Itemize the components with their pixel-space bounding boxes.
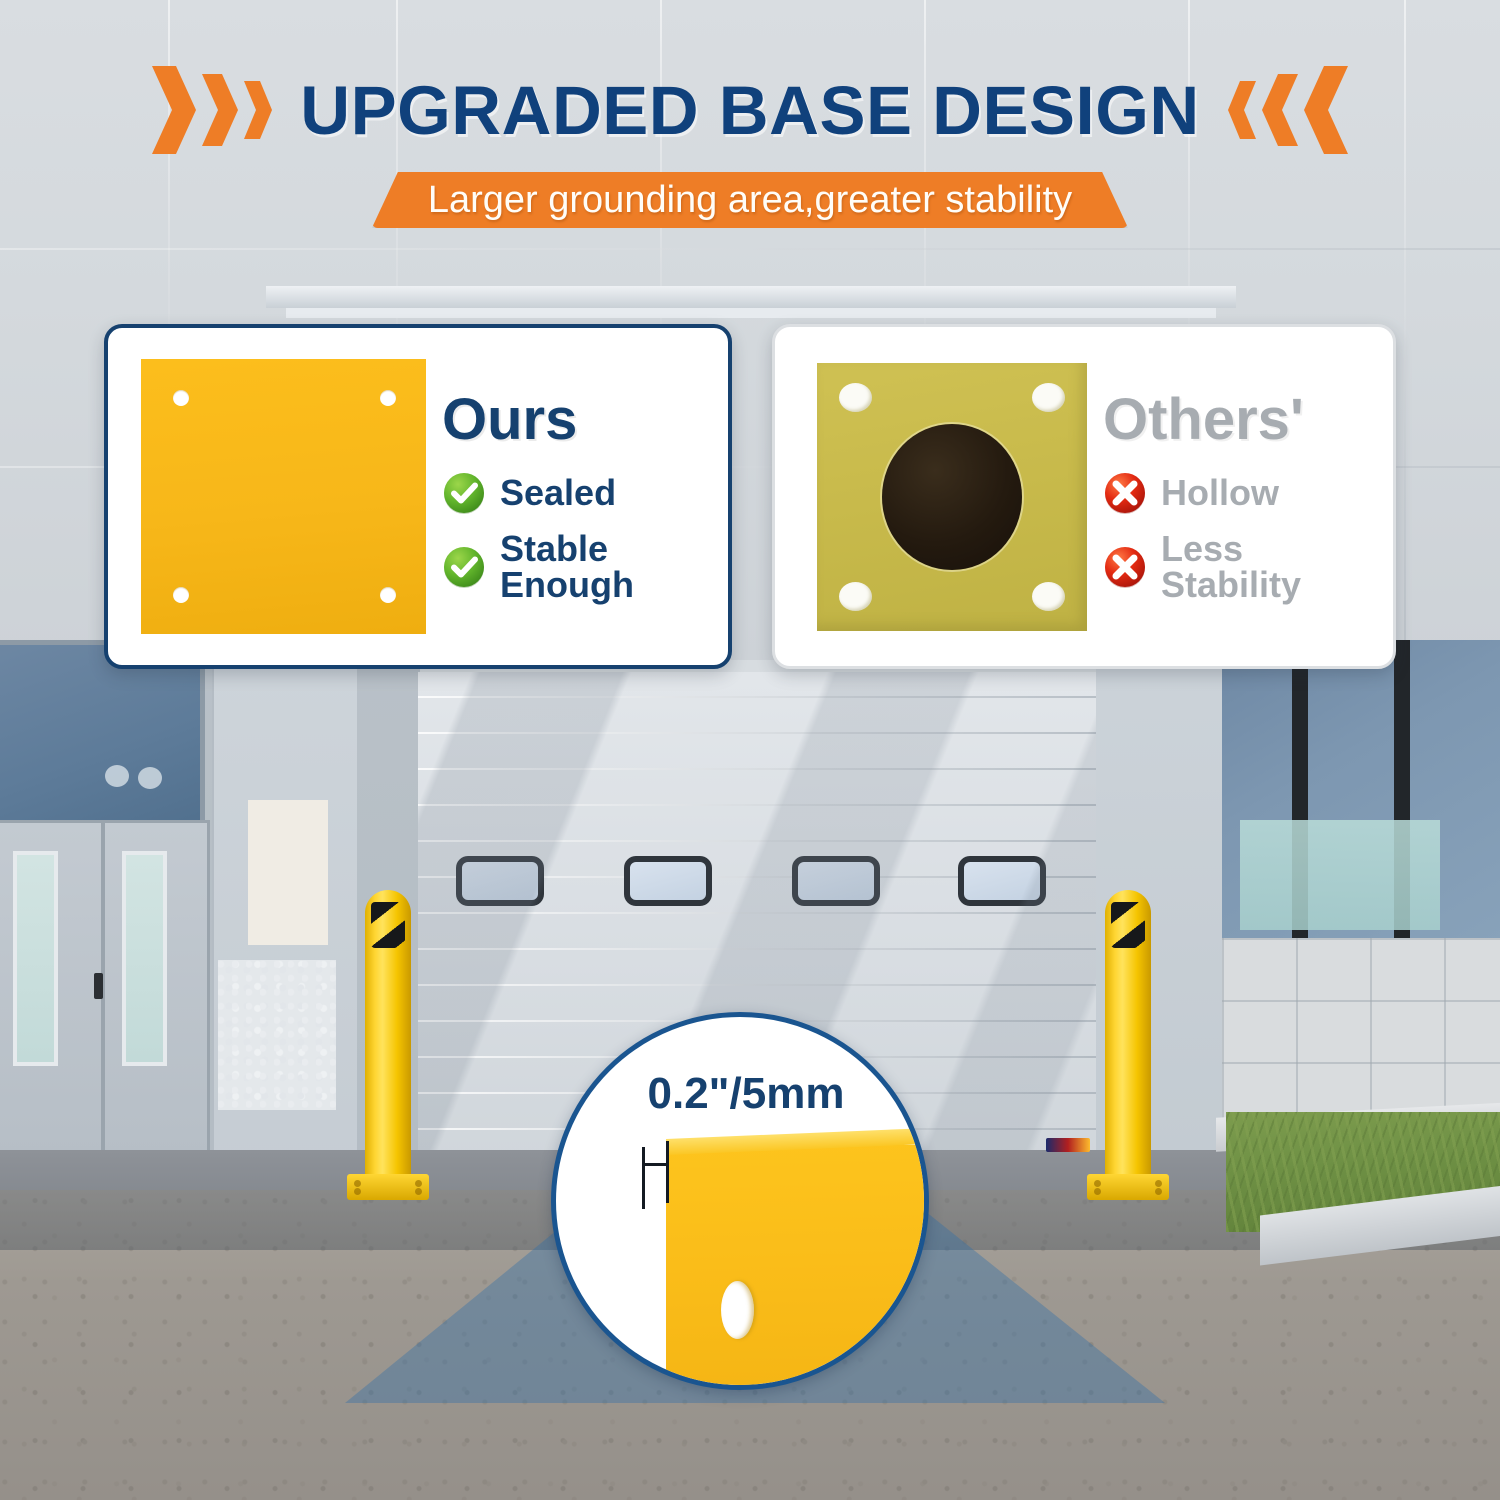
others-feature-label: Hollow (1161, 475, 1279, 511)
others-feature-line2: Stability (1161, 567, 1301, 603)
office-double-door (0, 820, 210, 1165)
others-feature-hollow: Hollow (1103, 471, 1379, 515)
glass-reflection (1240, 820, 1440, 930)
others-feature-line1: Less (1161, 531, 1301, 567)
ours-feature-label: Sealed (500, 475, 616, 511)
thickness-magnifier-callout: 0.2"/5mm (551, 1012, 929, 1390)
page-title-row: UPGRADED BASE DESIGN (0, 62, 1500, 158)
door-lintel-lower (286, 308, 1216, 318)
ours-text-column: Ours Sealed Stable Enough (426, 391, 728, 603)
ours-feature-line1: Stable (500, 531, 634, 567)
wall-patch (248, 800, 328, 945)
ours-plate-image (108, 359, 426, 634)
chevrons-right-icon (150, 64, 274, 156)
chevrons-left-icon (1226, 64, 1350, 156)
concrete-block-wall (1222, 938, 1500, 1118)
comparison-card-ours: Ours Sealed Stable Enough (104, 324, 732, 669)
subtitle-text: Larger grounding area,greater stability (428, 179, 1072, 222)
bollard-right (1105, 890, 1151, 1200)
check-circle-icon (442, 545, 486, 589)
thickness-dimension-label: 0.2"/5mm (596, 1069, 896, 1119)
magnified-plate-edge (666, 1145, 929, 1390)
others-label: Others' (1103, 391, 1379, 449)
x-circle-icon (1103, 545, 1147, 589)
ours-feature-stable: Stable Enough (442, 531, 714, 603)
x-circle-icon (1103, 471, 1147, 515)
ours-feature-label: Stable Enough (500, 531, 634, 603)
others-plate-image (775, 363, 1087, 631)
check-circle-icon (442, 471, 486, 515)
subtitle-banner: Larger grounding area,greater stability (372, 172, 1128, 228)
page-title: UPGRADED BASE DESIGN (300, 71, 1199, 150)
hollow-center-hole (882, 424, 1022, 570)
ours-label: Ours (442, 391, 714, 449)
magnified-bolt-hole (721, 1281, 754, 1339)
bollard-left (365, 890, 411, 1200)
warning-sticker (1046, 1138, 1090, 1152)
hazard-stripe-icon (1111, 902, 1145, 948)
ours-feature-sealed: Sealed (442, 471, 714, 515)
ours-feature-line2: Enough (500, 567, 634, 603)
comparison-card-others: Others' Hollow Less Stability (772, 324, 1396, 669)
others-feature-label: Less Stability (1161, 531, 1301, 603)
others-text-column: Others' Hollow Less Stability (1087, 391, 1393, 603)
hazard-stripe-icon (371, 902, 405, 948)
door-lintel (266, 286, 1236, 308)
wall-rough-texture (218, 960, 336, 1110)
others-feature-stability: Less Stability (1103, 531, 1379, 603)
